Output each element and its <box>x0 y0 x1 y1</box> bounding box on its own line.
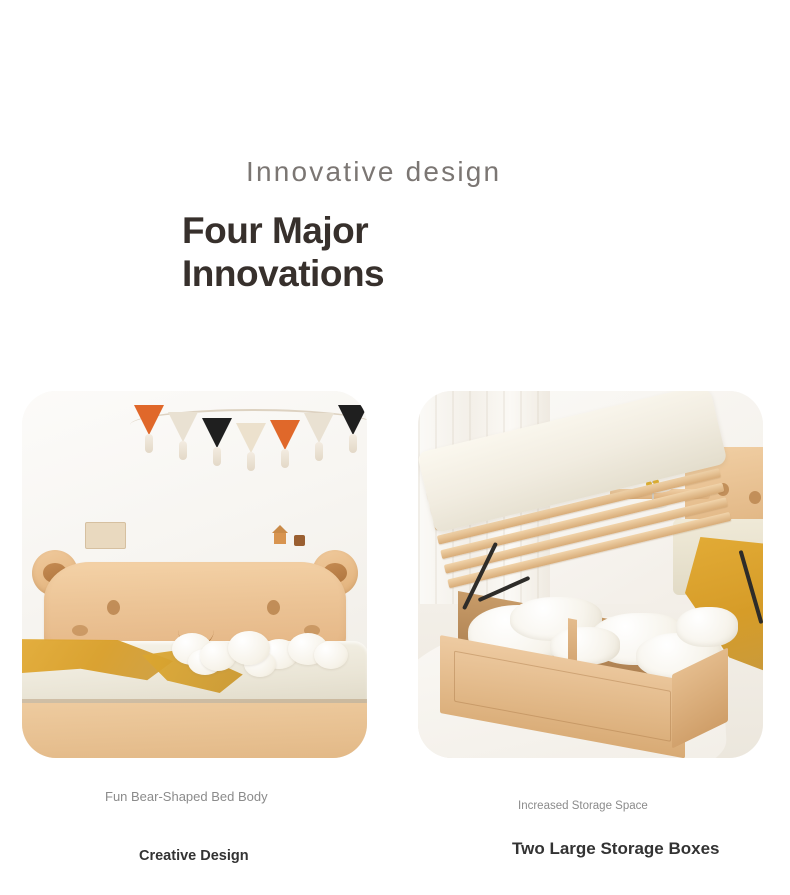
bear-eye-left-icon <box>107 600 120 615</box>
bunting-flags-decor <box>130 401 367 461</box>
wooden-house-toy <box>274 532 286 544</box>
bear-eye-right-icon <box>267 600 280 615</box>
bunting-flag-1-icon <box>134 405 164 435</box>
feature-card-bear-bed[interactable] <box>22 391 367 758</box>
stored-bedding-item <box>676 607 738 647</box>
page-title-line-1: Four Major <box>182 209 384 252</box>
caption-title-right: Two Large Storage Boxes <box>512 838 720 859</box>
bunting-flag-6-icon <box>304 413 334 443</box>
cloud-pillow <box>314 641 348 669</box>
caption-subtitle-left: Fun Bear-Shaped Bed Body <box>105 788 268 805</box>
storage-bed-photo <box>418 391 763 758</box>
feature-card-storage-bed[interactable] <box>418 391 763 758</box>
bunting-tassel-7 <box>349 434 357 453</box>
storage-box-assembly <box>440 587 726 713</box>
second-bear-eye-right-icon <box>749 491 761 504</box>
bunting-tassel-6 <box>315 442 323 461</box>
caption-subtitle-right: Increased Storage Space <box>518 798 648 814</box>
bear-cheek-left-icon <box>72 625 88 636</box>
bunting-tassel-2 <box>179 441 187 460</box>
caption-title-left: Creative Design <box>139 847 249 866</box>
bear-bed-photo <box>22 391 367 758</box>
bunting-tassel-1 <box>145 434 153 453</box>
bunting-flag-5-icon <box>270 420 300 450</box>
bunting-tassel-5 <box>281 449 289 468</box>
page-title-line-2: Innovations <box>182 252 384 295</box>
bunting-flag-2-icon <box>168 412 198 442</box>
section-subtitle: Innovative design <box>246 156 501 188</box>
promo-page: Innovative design Four Major Innovations <box>0 0 790 895</box>
bunting-flag-4-icon <box>236 423 266 453</box>
bunting-tassel-4 <box>247 452 255 471</box>
bunting-tassel-3 <box>213 447 221 466</box>
bed-wooden-base <box>22 703 367 758</box>
page-title: Four Major Innovations <box>182 209 384 295</box>
wooden-block-toy <box>294 535 305 546</box>
cloud-pillow <box>228 631 270 665</box>
bunting-flag-3-icon <box>202 418 232 448</box>
bunting-flag-7-icon <box>338 405 367 435</box>
wall-picture-frame <box>85 522 126 549</box>
